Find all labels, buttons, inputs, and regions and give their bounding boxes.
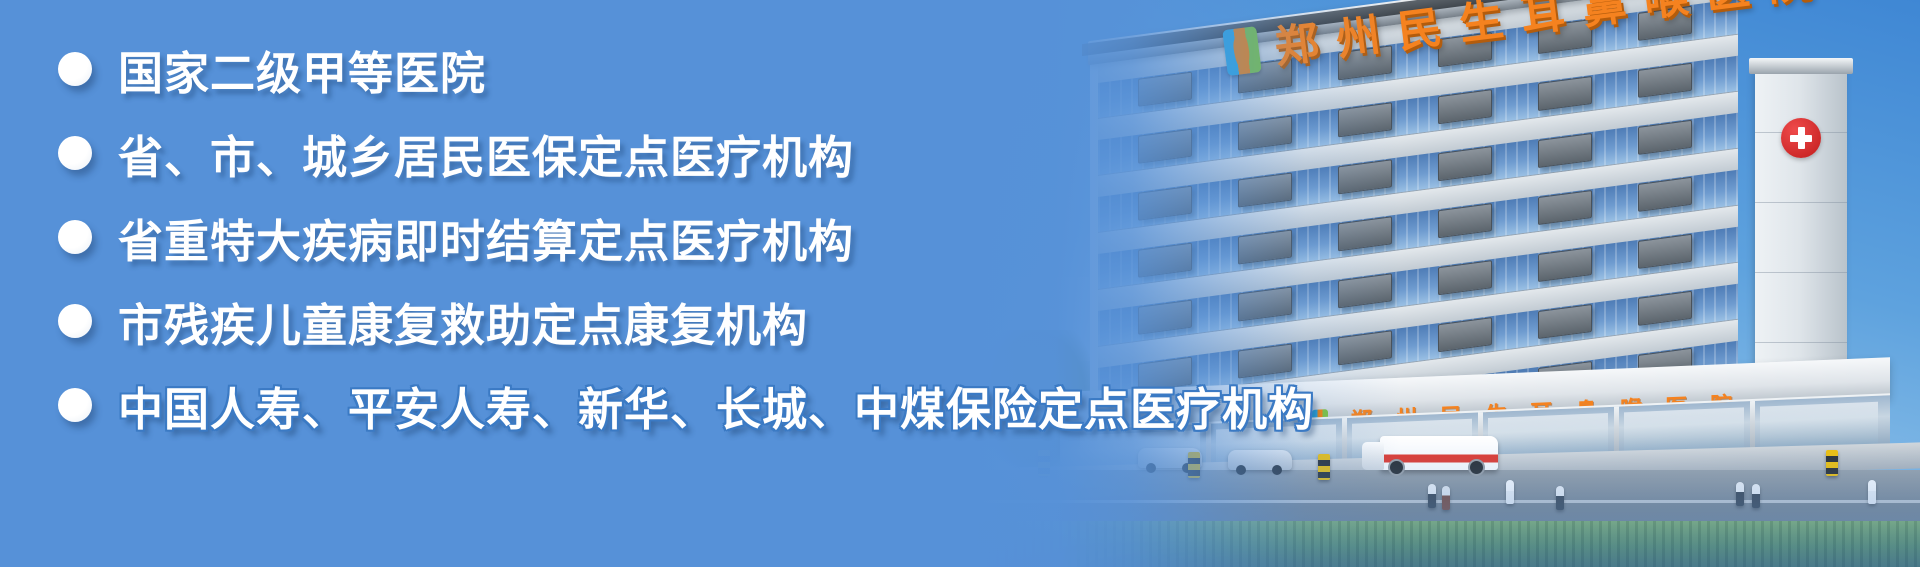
circle-bullet-icon bbox=[58, 388, 92, 422]
credential-text: 国家二级甲等医院 bbox=[118, 37, 486, 102]
circle-bullet-icon bbox=[58, 220, 92, 254]
credential-text: 中国人寿、平安人寿、新华、长城、中煤保险定点医疗机构 bbox=[118, 373, 1314, 438]
credential-text: 市残疾儿童康复救助定点康复机构 bbox=[118, 289, 808, 354]
circle-bullet-icon bbox=[58, 304, 92, 338]
list-item: 国家二级甲等医院 bbox=[58, 38, 1560, 100]
list-item: 省重特大疾病即时结算定点医疗机构 bbox=[58, 206, 1560, 268]
list-item: 省、市、城乡居民医保定点医疗机构 bbox=[58, 122, 1560, 184]
hospital-credentials-banner: 郑 州 民 生 耳 鼻 喉 医 院 郑 州 民 生 耳 鼻 喉 医 院 bbox=[0, 0, 1920, 567]
list-item: 市残疾儿童康复救助定点康复机构 bbox=[58, 290, 1560, 352]
credential-text: 省重特大疾病即时结算定点医疗机构 bbox=[118, 205, 854, 270]
circle-bullet-icon bbox=[58, 136, 92, 170]
credential-text: 省、市、城乡居民医保定点医疗机构 bbox=[118, 121, 854, 186]
circle-bullet-icon bbox=[58, 52, 92, 86]
list-item: 中国人寿、平安人寿、新华、长城、中煤保险定点医疗机构 bbox=[58, 374, 1560, 436]
credentials-list: 国家二级甲等医院 省、市、城乡居民医保定点医疗机构 省重特大疾病即时结算定点医疗… bbox=[0, 0, 1560, 567]
